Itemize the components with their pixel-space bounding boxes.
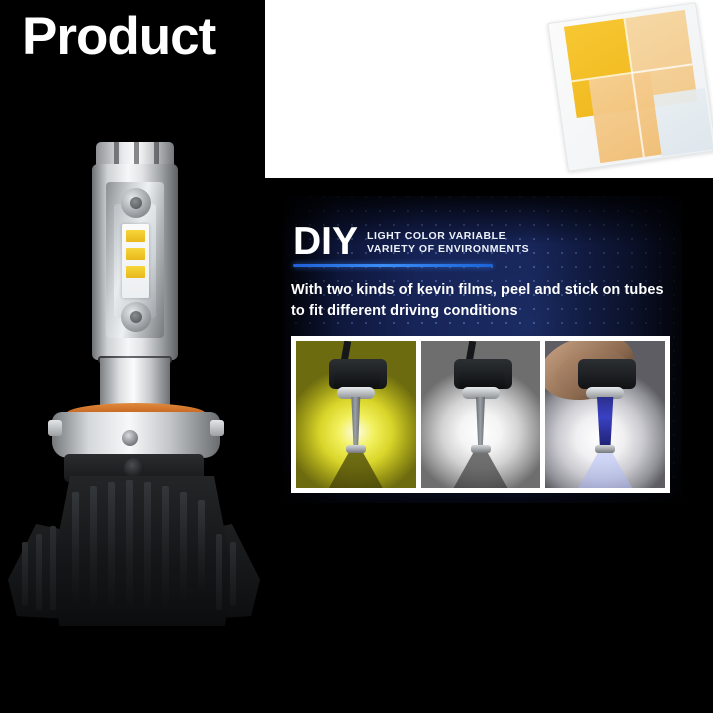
screw-boss-top bbox=[121, 188, 151, 218]
heatsink-fin bbox=[198, 500, 205, 598]
beam-shadow bbox=[573, 449, 637, 488]
accent-rule bbox=[293, 264, 493, 267]
diy-heading: DIY bbox=[293, 224, 358, 260]
diy-body-text: With two kinds of kevin films, peel and … bbox=[291, 280, 671, 321]
thumbnail-strip bbox=[291, 336, 670, 493]
led-chip-2 bbox=[126, 248, 145, 260]
led-chip-3 bbox=[126, 266, 145, 278]
heatsink-fin-right bbox=[216, 534, 222, 610]
top-white-band bbox=[265, 0, 713, 178]
diy-body-line1: With two kinds of kevin films, peel and … bbox=[291, 280, 671, 301]
blue-film-thumbnail bbox=[545, 341, 665, 488]
flange-tab-left bbox=[48, 420, 62, 436]
heatsink-fin bbox=[90, 486, 97, 608]
bulb-tip bbox=[595, 445, 615, 453]
heatsink-body bbox=[52, 476, 232, 626]
heatsink-fin-right bbox=[230, 542, 236, 606]
flange-tab-right bbox=[210, 420, 224, 436]
bulb-shaft bbox=[348, 397, 364, 449]
heatsink-fin bbox=[72, 492, 79, 604]
diy-subheading-line2: VARIETY OF ENVIRONMENTS bbox=[367, 243, 529, 256]
heatsink bbox=[8, 476, 260, 626]
heatsink-fin-left bbox=[36, 534, 42, 610]
collar-screw bbox=[124, 458, 144, 478]
beam-shadow bbox=[324, 449, 388, 488]
diy-subheading: LIGHT COLOR VARIABLE VARIETY OF ENVIRONM… bbox=[367, 230, 529, 257]
page-title: Product bbox=[22, 8, 215, 66]
film-strip-clear bbox=[653, 88, 713, 157]
product-image-canvas: Product bbox=[0, 0, 713, 713]
diy-heading-row: DIY LIGHT COLOR VARIABLE VARIETY OF ENVI… bbox=[293, 224, 529, 260]
blue-film-wrap bbox=[593, 397, 617, 447]
white-light-thumbnail bbox=[421, 341, 541, 488]
diy-subheading-line1: LIGHT COLOR VARIABLE bbox=[367, 230, 529, 243]
heatsink-fin bbox=[180, 492, 187, 604]
screw-boss-bottom bbox=[121, 302, 151, 332]
diy-body-line2: to fit different driving conditions bbox=[291, 301, 671, 322]
flange-screw bbox=[122, 430, 138, 446]
bulb-tip bbox=[346, 445, 366, 453]
film-strip-peach bbox=[589, 71, 662, 163]
heatsink-fin bbox=[126, 480, 133, 610]
heatsink-fin-left bbox=[50, 526, 56, 610]
bulb-shaft bbox=[473, 397, 489, 449]
heatsink-fin-left bbox=[22, 542, 28, 606]
heatsink-fin bbox=[108, 482, 115, 610]
heatsink-fin bbox=[144, 482, 151, 610]
led-headlight-bulb-image bbox=[0, 120, 262, 640]
beam-shadow bbox=[449, 449, 513, 488]
film-sheet-image bbox=[547, 2, 713, 171]
bulb-tip bbox=[471, 445, 491, 453]
yellow-light-thumbnail bbox=[296, 341, 416, 488]
led-chip-1 bbox=[126, 230, 145, 242]
diy-info-panel: DIY LIGHT COLOR VARIABLE VARIETY OF ENVI… bbox=[283, 196, 682, 503]
bulb-head bbox=[578, 359, 636, 389]
heatsink-fin bbox=[162, 486, 169, 608]
